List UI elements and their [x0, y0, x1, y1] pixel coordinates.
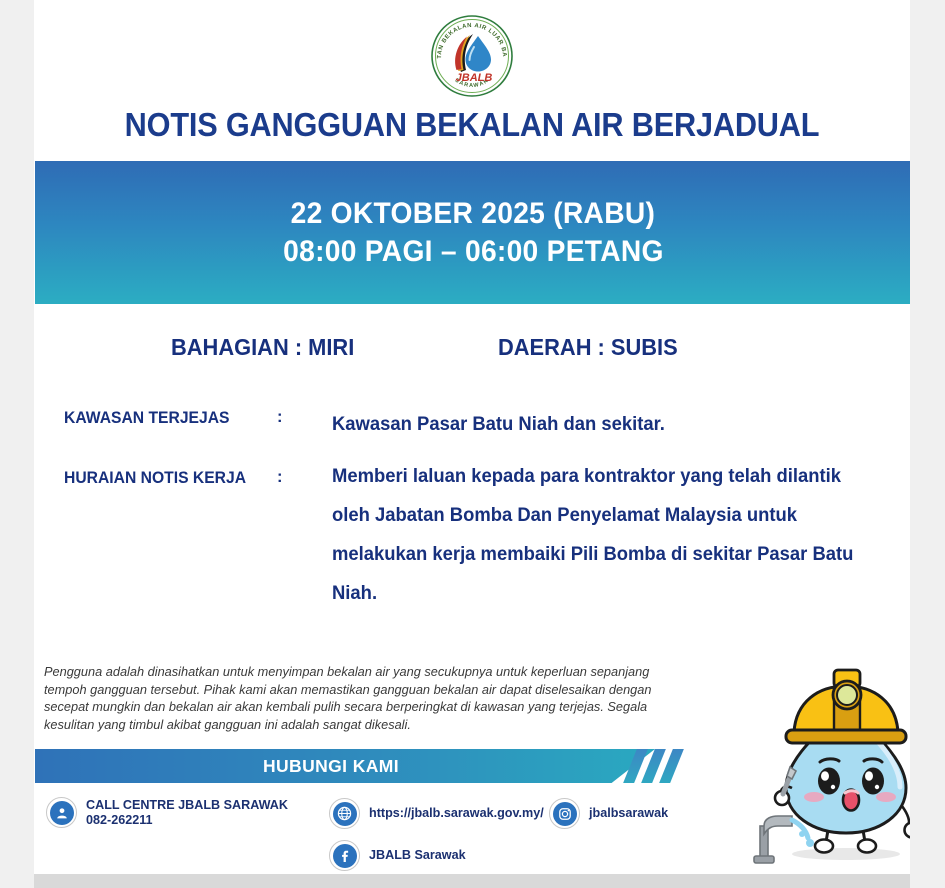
- value-huraian-notis-kerja: Memberi laluan kepada para kontraktor ya…: [332, 457, 877, 613]
- contact-instagram[interactable]: jbalbsarawak: [549, 798, 668, 829]
- contact-bar-background: HUBUNGI KAMI: [35, 749, 655, 783]
- call-centre-label: CALL CENTRE JBALB SARAWAK: [86, 798, 288, 812]
- page-title: NOTIS GANGGUAN BEKALAN AIR BERJADUAL: [65, 106, 880, 144]
- region-bahagian: BAHAGIAN : MIRI: [171, 334, 354, 361]
- date-time-banner: 22 OKTOBER 2025 (RABU) 08:00 PAGI – 06:0…: [35, 161, 910, 304]
- website-label: https://jbalb.sarawak.gov.my/: [369, 806, 544, 821]
- region-row: BAHAGIAN : MIRI DAERAH : SUBIS: [34, 334, 910, 366]
- jbalb-logo: JABATAN BEKALAN AIR LUAR BANDAR SARAWAK …: [430, 14, 514, 98]
- colon-kawasan-terjejas: :: [277, 408, 283, 427]
- colon-huraian-notis-kerja: :: [277, 468, 283, 487]
- water-droplet-mascot: [734, 648, 910, 874]
- banner-time: 08:00 PAGI – 06:00 PETANG: [283, 235, 664, 269]
- call-centre-text: CALL CENTRE JBALB SARAWAK 082-262211: [86, 798, 288, 828]
- bottom-edge-strip: [34, 874, 910, 888]
- facebook-label: JBALB Sarawak: [369, 848, 466, 863]
- contact-facebook[interactable]: JBALB Sarawak: [329, 840, 466, 871]
- notice-card: JABATAN BEKALAN AIR LUAR BANDAR SARAWAK …: [34, 0, 910, 874]
- value-kawasan-terjejas: Kawasan Pasar Batu Niah dan sekitar.: [332, 405, 875, 444]
- person-icon: [46, 797, 77, 828]
- contact-website[interactable]: https://jbalb.sarawak.gov.my/: [329, 798, 544, 829]
- notice-page: JABATAN BEKALAN AIR LUAR BANDAR SARAWAK …: [0, 0, 945, 888]
- globe-icon: [329, 798, 360, 829]
- banner-date: 22 OKTOBER 2025 (RABU): [291, 197, 656, 231]
- label-huraian-notis-kerja: HURAIAN NOTIS KERJA: [64, 469, 246, 488]
- disclaimer-text: Pengguna adalah dinasihatkan untuk menyi…: [44, 663, 654, 733]
- instagram-icon: [549, 798, 580, 829]
- contact-bar-title: HUBUNGI KAMI: [263, 756, 399, 777]
- region-daerah: DAERAH : SUBIS: [498, 334, 678, 361]
- facebook-icon: [329, 840, 360, 871]
- label-kawasan-terjejas: KAWASAN TERJEJAS: [64, 409, 229, 428]
- contact-header-bar: HUBUNGI KAMI: [35, 749, 715, 783]
- instagram-label: jbalbsarawak: [589, 806, 668, 821]
- contact-call-centre[interactable]: CALL CENTRE JBALB SARAWAK 082-262211: [46, 797, 288, 828]
- svg-text:JBALB: JBALB: [456, 72, 493, 84]
- call-centre-phone: 082-262211: [86, 813, 288, 828]
